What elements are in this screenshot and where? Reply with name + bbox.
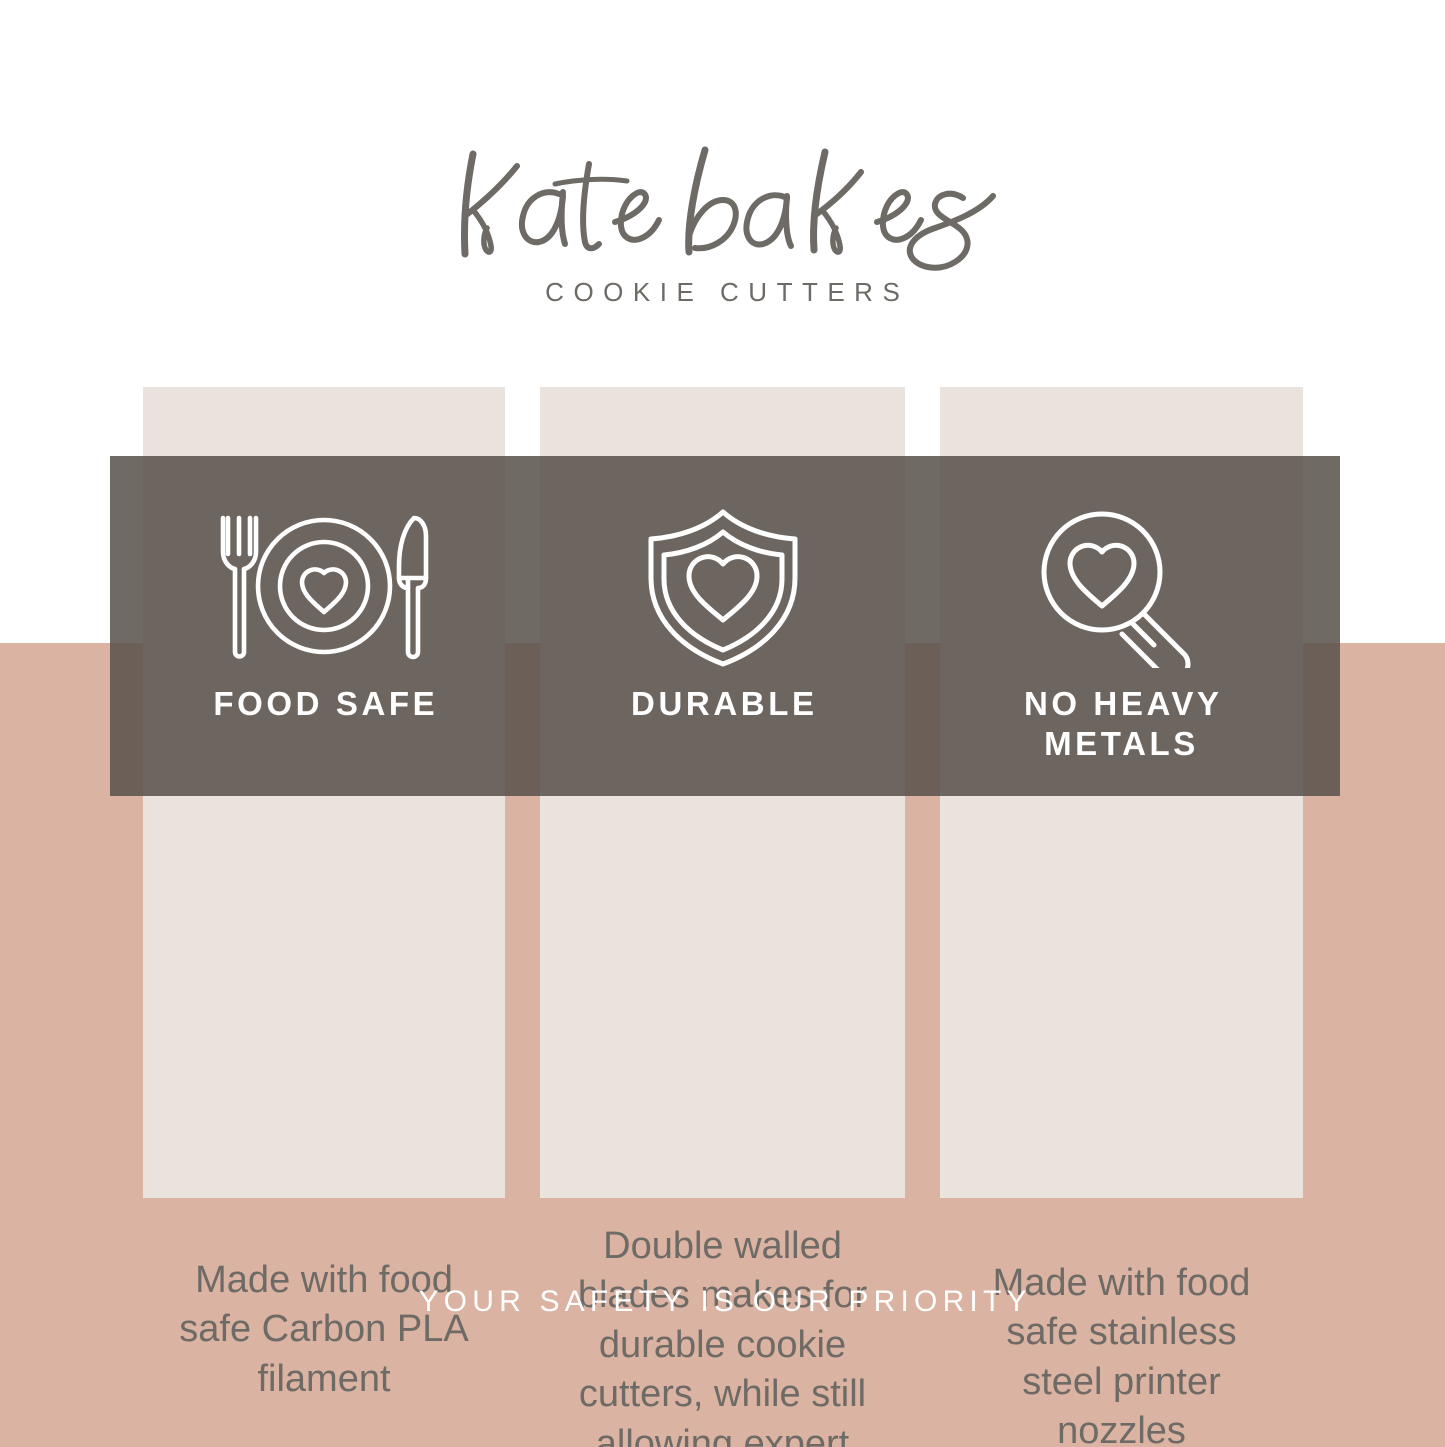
brand-logo: COOKIE CUTTERS [0, 140, 1445, 308]
shield-heart-icon [643, 508, 803, 668]
plate-fork-knife-heart-icon [218, 508, 430, 668]
feature-description: Made with food safe Carbon PLA filament [143, 1256, 505, 1404]
footer-tagline: YOUR SAFETY IS OUR PRIORITY [0, 1285, 1445, 1319]
brand-subtitle: COOKIE CUTTERS [0, 277, 1445, 308]
feature-description: Double walled blades makes for durable c… [540, 1222, 905, 1447]
feature-icon-band: FOOD SAFE DURABLE [110, 456, 1340, 796]
feature-label: DURABLE [627, 684, 817, 724]
feature-label: FOOD SAFE [210, 684, 439, 724]
infographic-root: COOKIE CUTTERS Made with food safe Carbo… [0, 0, 1445, 1447]
feature-item-durable: DURABLE [540, 456, 905, 796]
feature-label: NO HEAVY METALS [1020, 684, 1222, 765]
magnifier-heart-icon [1038, 508, 1206, 668]
feature-item-no-heavy-metals: NO HEAVY METALS [940, 456, 1303, 796]
feature-item-food-safe: FOOD SAFE [143, 456, 505, 796]
brand-script-name [0, 140, 1445, 275]
